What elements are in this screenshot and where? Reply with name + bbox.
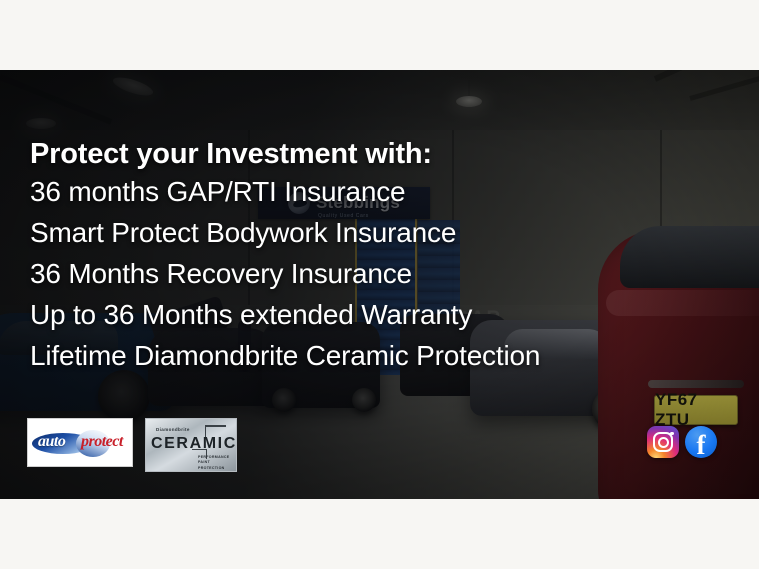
promo-slide: CAR TO Stebbings Quality Used Cars: [0, 0, 759, 569]
benefit-item-2: Smart Protect Bodywork Insurance: [30, 219, 710, 247]
diamondbrite-ceramic-logo: Diamondbrite CERAMIC PERFORMANCE PAINT P…: [145, 418, 237, 472]
autoprotect-word-auto: auto: [38, 433, 65, 451]
instagram-icon[interactable]: [647, 426, 679, 458]
instagram-dot: [670, 432, 673, 435]
benefit-item-5: Lifetime Diamondbrite Ceramic Protection: [30, 342, 710, 370]
social-links: f: [647, 426, 717, 458]
page-title: Protect your Investment with:: [30, 140, 710, 169]
promo-copy: Protect your Investment with: 36 months …: [30, 140, 710, 370]
autoprotect-word-protect: protect: [81, 433, 123, 451]
instagram-lens: [658, 437, 669, 448]
benefit-item-4: Up to 36 Months extended Warranty: [30, 301, 710, 329]
facebook-f-glyph: f: [685, 426, 717, 458]
benefit-item-3: 36 Months Recovery Insurance: [30, 260, 710, 288]
autoprotect-logo: auto protect: [27, 418, 133, 467]
ceramic-brand-text: Diamondbrite: [156, 427, 190, 432]
facebook-icon[interactable]: f: [685, 426, 717, 458]
benefit-item-1: 36 months GAP/RTI Insurance: [30, 178, 710, 206]
ceramic-subtitle-text: PERFORMANCE PAINT PROTECTION: [198, 455, 236, 471]
partner-badges: auto protect Diamondbrite CERAMIC PERFOR…: [27, 418, 237, 472]
